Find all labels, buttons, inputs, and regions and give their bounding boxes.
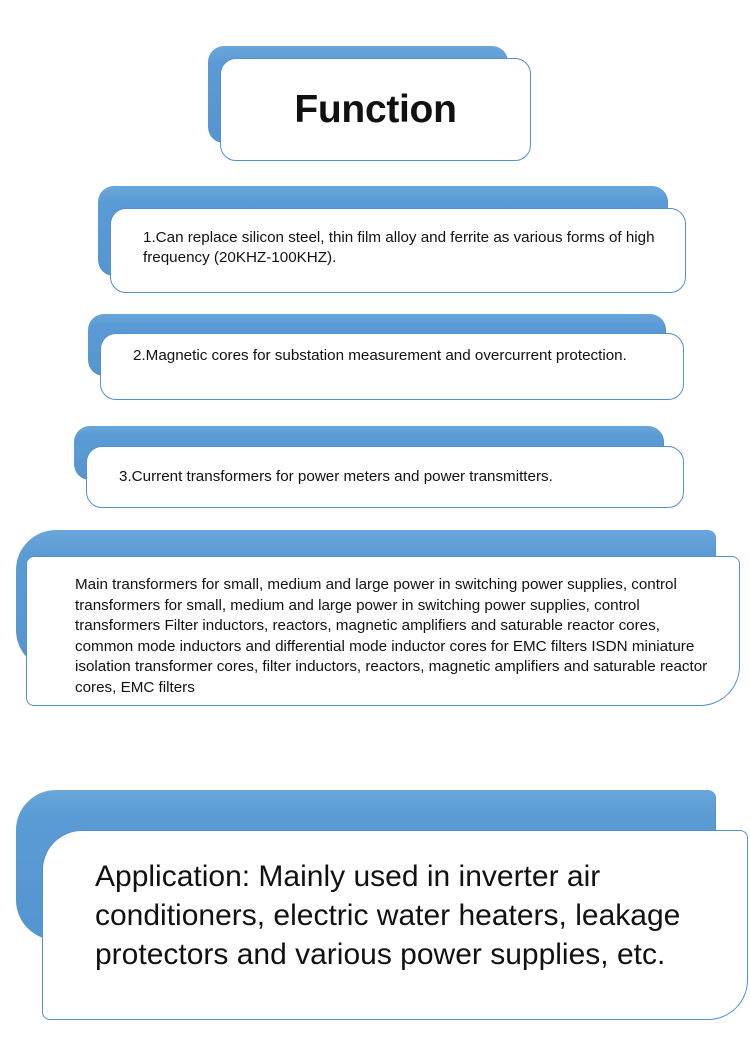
callout-card: 3.Current transformers for power meters … xyxy=(86,446,684,508)
applications-paragraph-text: Main transformers for small, medium and … xyxy=(75,575,721,699)
callout-card: Main transformers for small, medium and … xyxy=(26,556,740,706)
function-item-text: 1.Can replace silicon steel, thin film a… xyxy=(143,228,671,268)
callout-card: Application: Mainly used in inverter air… xyxy=(42,830,748,1020)
function-item-3-callout: 3.Current transformers for power meters … xyxy=(74,426,664,480)
page-title: Function xyxy=(221,88,530,132)
function-item-2-callout: 2.Magnetic cores for substation measurem… xyxy=(88,314,666,376)
application-summary-text: Application: Mainly used in inverter air… xyxy=(95,857,717,974)
function-title-callout: Function xyxy=(208,46,508,143)
callout-card: 2.Magnetic cores for substation measurem… xyxy=(100,333,684,400)
applications-paragraph-callout: Main transformers for small, medium and … xyxy=(16,530,716,670)
function-item-text: 3.Current transformers for power meters … xyxy=(119,467,669,487)
callout-card: Function xyxy=(220,58,531,161)
function-item-text: 2.Magnetic cores for substation measurem… xyxy=(133,346,669,366)
callout-card: 1.Can replace silicon steel, thin film a… xyxy=(110,208,686,293)
application-summary-callout: Application: Mainly used in inverter air… xyxy=(16,790,716,940)
function-item-1-callout: 1.Can replace silicon steel, thin film a… xyxy=(98,186,668,276)
